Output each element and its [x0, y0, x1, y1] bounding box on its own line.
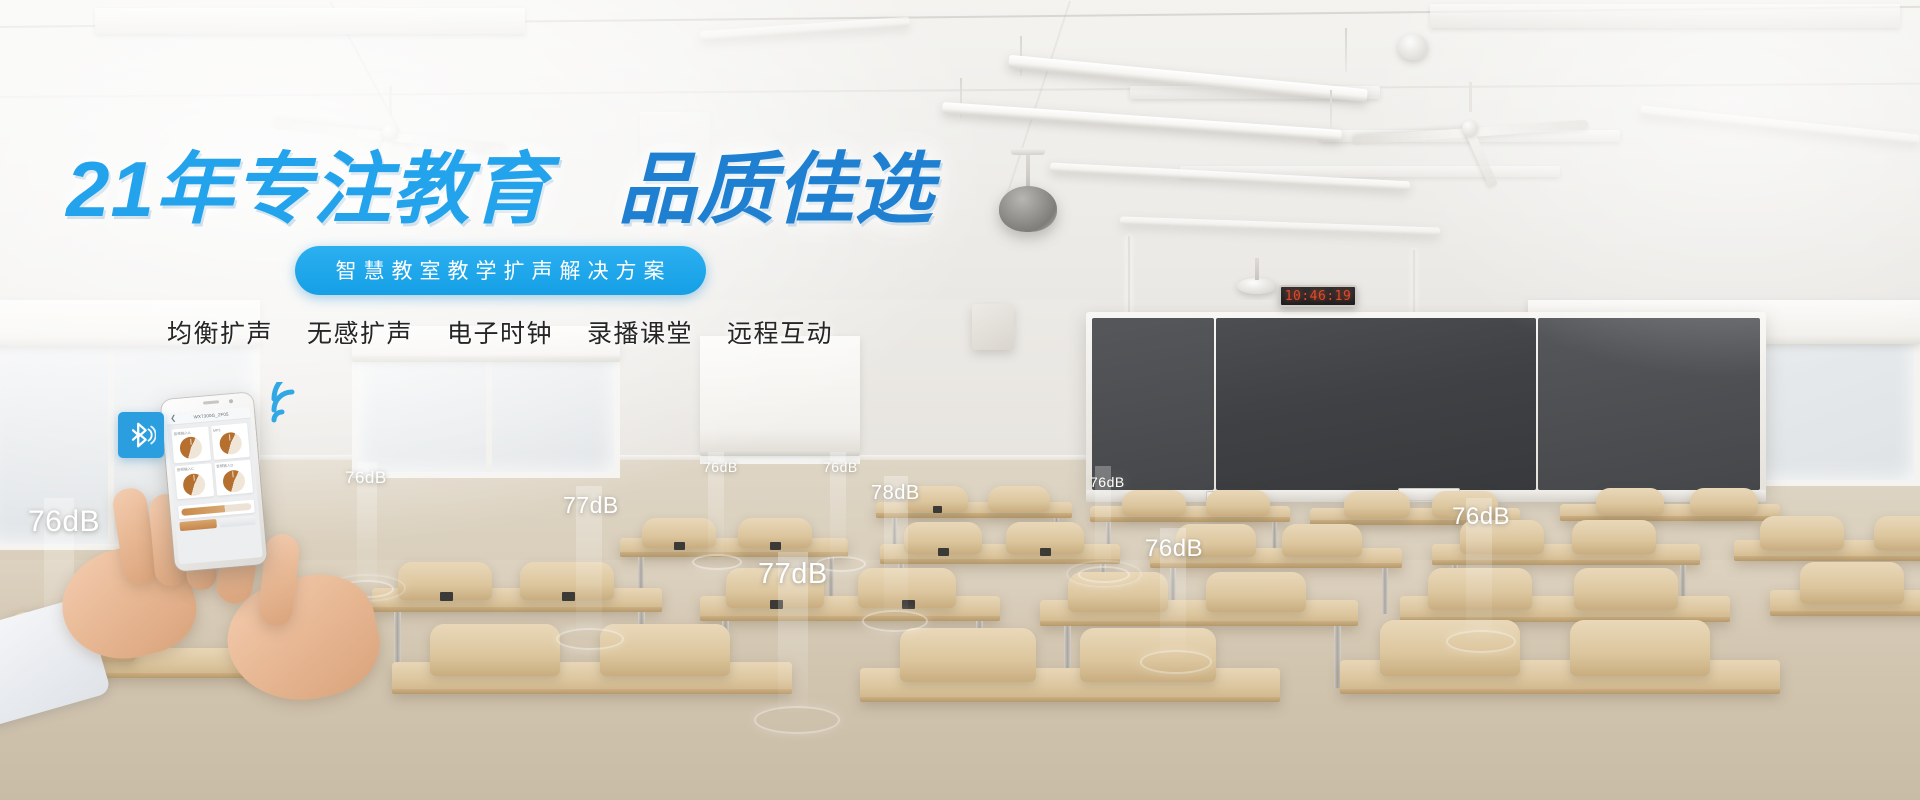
- phone-screen[interactable]: ❮ WX7300G_2F05 音频输入A MP3 音频输入C 音频输入D: [166, 407, 263, 565]
- db-reading: 78dB: [871, 482, 920, 505]
- chair: [1760, 516, 1844, 550]
- chair-mark: [440, 592, 453, 601]
- fan-stem: [1469, 82, 1472, 112]
- fan-stem: [389, 86, 392, 116]
- db-reading: 77dB: [563, 492, 619, 519]
- chair: [1570, 620, 1710, 676]
- ceiling-panel: [640, 112, 710, 182]
- chair: [1206, 572, 1306, 612]
- chair: [988, 486, 1050, 512]
- phone-front-camera: [229, 399, 233, 403]
- db-reading: 76dB: [345, 468, 387, 488]
- ceiling-sensor-disc: [1398, 34, 1428, 60]
- desk-leg: [1382, 568, 1388, 614]
- window-blind-rail: [700, 450, 860, 456]
- db-reading: 76dB: [703, 459, 738, 475]
- ceiling-sensor-disc: [1237, 278, 1277, 294]
- microphone-boom-pole: [1412, 250, 1416, 320]
- ceiling-panel: [95, 8, 525, 34]
- chair: [1282, 524, 1362, 557]
- audio-channel-card[interactable]: 音频输入D: [214, 459, 253, 496]
- chair: [1572, 520, 1656, 554]
- sensor-mount: [1255, 258, 1259, 280]
- channel-label: 音频输入D: [216, 462, 249, 470]
- bluetooth-badge: [118, 412, 164, 458]
- volume-knob[interactable]: [179, 436, 203, 460]
- slider-track[interactable]: [181, 503, 251, 516]
- light-suspension-rod: [1345, 28, 1347, 72]
- db-reading: 76dB: [1452, 503, 1510, 531]
- phone-earpiece: [203, 400, 219, 404]
- ceiling-fan: [300, 112, 480, 152]
- chair: [1574, 568, 1678, 610]
- chair-mark: [674, 542, 685, 550]
- channel-label: 音频输入C: [177, 465, 210, 473]
- ceiling-panel: [1430, 4, 1900, 28]
- fan-hub: [1462, 120, 1478, 136]
- electronic-clock: 10:46:19: [1279, 285, 1357, 307]
- ceiling-fan: [1380, 108, 1560, 148]
- app-control-grid: 音频输入A MP3 音频输入C 音频输入D: [167, 419, 257, 504]
- desk-leg: [828, 557, 834, 599]
- chair: [1206, 490, 1270, 516]
- chair-mark: [902, 600, 915, 609]
- dome-mount: [1026, 152, 1030, 186]
- app-action-button[interactable]: [179, 519, 216, 531]
- blackboard-right-wing: [1538, 318, 1760, 490]
- smartphone[interactable]: ❮ WX7300G_2F05 音频输入A MP3 音频输入C 音频输入D: [161, 392, 268, 571]
- db-reading: 76dB: [823, 459, 858, 475]
- db-reading: 76dB: [28, 505, 100, 539]
- fan-hub: [382, 124, 398, 140]
- audio-channel-card[interactable]: 音频输入A: [171, 426, 210, 463]
- db-reading: 76dB: [1090, 474, 1125, 490]
- chair: [900, 628, 1036, 682]
- audio-channel-card[interactable]: MP3: [211, 423, 250, 460]
- blackboard-left-wing: [1092, 318, 1214, 490]
- wall-speaker-box: [972, 304, 1014, 350]
- ceiling-speaker-dome: [999, 186, 1057, 232]
- light-suspension-rod: [1330, 90, 1332, 128]
- chair: [1690, 488, 1758, 515]
- chair: [1428, 568, 1532, 610]
- chair-mark: [933, 506, 942, 513]
- dome-ceiling-plate: [1011, 148, 1045, 155]
- db-reading: 76dB: [1145, 535, 1203, 563]
- window-blind: [0, 300, 260, 346]
- chair: [1874, 516, 1920, 550]
- chair-mark: [770, 542, 781, 550]
- chair-mark: [770, 600, 783, 609]
- clock-time-display: 10:46:19: [1285, 289, 1352, 304]
- chair: [1080, 628, 1216, 682]
- chair-mark: [938, 548, 949, 556]
- chair-mark: [562, 592, 575, 601]
- window-blind-rail: [352, 356, 620, 362]
- db-reading: 77dB: [758, 558, 828, 591]
- volume-knob[interactable]: [182, 472, 206, 496]
- chair: [1800, 562, 1904, 604]
- chair: [600, 624, 730, 676]
- chair: [1380, 620, 1520, 676]
- blackboard-surface: [1216, 318, 1536, 490]
- classroom-scene: 10:46:19: [0, 0, 1920, 800]
- window-blind: [700, 336, 860, 452]
- chair: [430, 624, 560, 676]
- ceiling: [0, 0, 1920, 330]
- audio-channel-card[interactable]: 音频输入C: [174, 463, 213, 500]
- channel-label: MP3: [213, 426, 246, 433]
- chair: [1596, 488, 1664, 515]
- chair-mark: [1040, 548, 1051, 556]
- volume-knob[interactable]: [219, 432, 243, 456]
- app-action-button[interactable]: [219, 516, 256, 528]
- bluetooth-icon: [126, 420, 156, 450]
- channel-label: 音频输入A: [173, 429, 206, 437]
- volume-knob[interactable]: [222, 469, 246, 493]
- chair: [1344, 491, 1410, 518]
- chair: [1122, 490, 1186, 516]
- window-blind: [352, 326, 620, 360]
- chair: [1068, 572, 1168, 612]
- wifi-signal-icon: [268, 382, 314, 424]
